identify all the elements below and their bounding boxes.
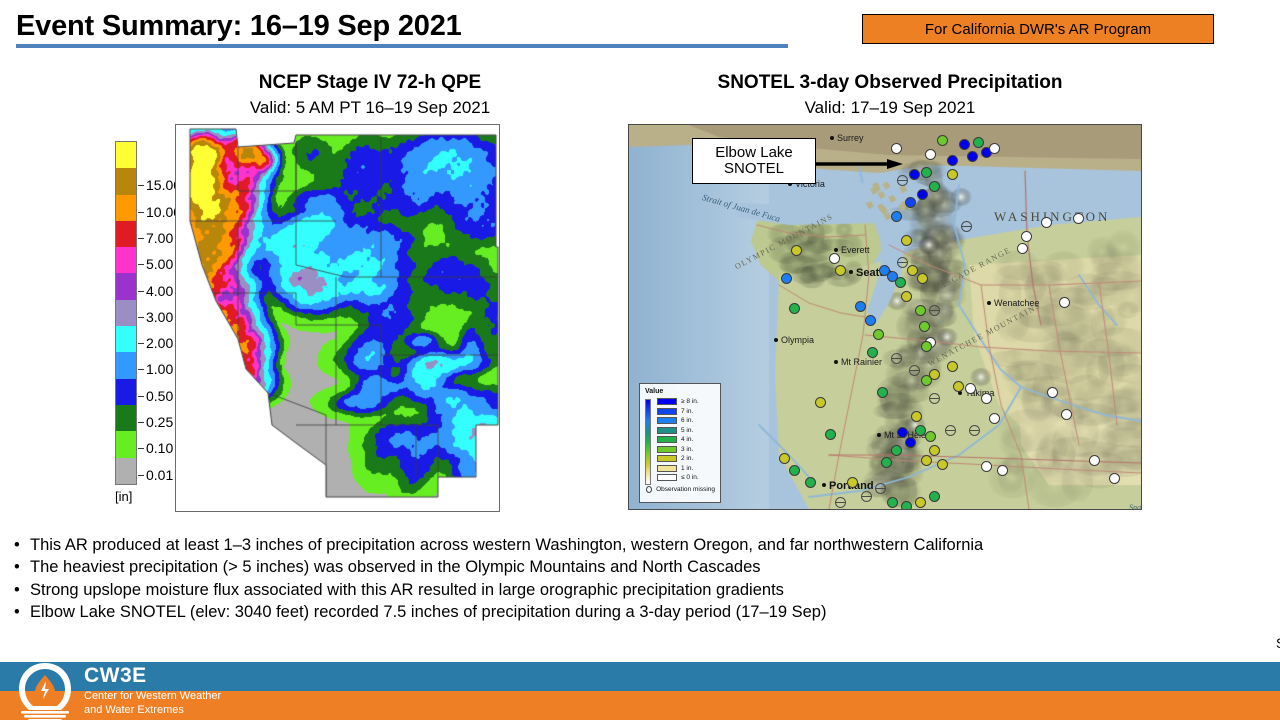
colorbar-label: 4.00 <box>146 284 173 298</box>
colorbar-tick <box>138 185 144 186</box>
snotel-site-marker[interactable] <box>981 393 992 404</box>
snotel-site-marker[interactable] <box>997 465 1008 476</box>
snotel-site-marker[interactable] <box>1059 297 1070 308</box>
colorbar-label: 7.00 <box>146 231 173 245</box>
footer-blue-band <box>0 662 1280 691</box>
snotel-site-marker[interactable] <box>915 497 926 508</box>
snotel-site-marker[interactable] <box>905 437 916 448</box>
snotel-site-marker[interactable] <box>947 169 958 180</box>
bullet-text: This AR produced at least 1–3 inches of … <box>30 535 1270 556</box>
colorbar-segment <box>116 379 136 405</box>
snotel-site-marker[interactable] <box>887 497 898 508</box>
snotel-site-missing[interactable] <box>897 257 908 268</box>
colorbar-label: 0.10 <box>146 441 173 455</box>
snotel-site-marker[interactable] <box>887 271 898 282</box>
colorbar-segment <box>116 431 136 457</box>
footer-tagline: Center for Western Weather and Water Ext… <box>84 690 221 718</box>
snotel-site-marker[interactable] <box>947 155 958 166</box>
footer-brand-name: CW3E <box>84 664 147 688</box>
snotel-site-marker[interactable] <box>915 305 926 316</box>
snotel-site-marker[interactable] <box>835 265 846 276</box>
source-prefix: Source: USDA NRCS NWCC, <box>1276 636 1280 651</box>
right-panel-subtitle: Valid: 17–19 Sep 2021 <box>620 98 1160 118</box>
snotel-site-marker[interactable] <box>891 143 902 154</box>
colorbar-segment <box>116 300 136 326</box>
bullet-text: Strong upslope moisture flux associated … <box>30 580 1270 601</box>
snotel-site-marker[interactable] <box>981 461 992 472</box>
snotel-site-marker[interactable] <box>959 139 970 150</box>
city-dot <box>834 360 838 364</box>
snotel-site-marker[interactable] <box>921 455 932 466</box>
colorbar-label: 0.01 <box>146 468 173 482</box>
snotel-site-marker[interactable] <box>781 273 792 284</box>
colorbar-tick <box>138 448 144 449</box>
snotel-site-marker[interactable] <box>1089 455 1100 466</box>
snotel-legend-row: ≥ 8 in. <box>657 397 715 407</box>
snotel-legend-label: 7 in. <box>681 408 693 415</box>
cw3e-logo-icon <box>10 660 80 720</box>
snotel-site-marker[interactable] <box>907 265 918 276</box>
snotel-legend-row: 5 in. <box>657 426 715 436</box>
snotel-site-marker[interactable] <box>921 167 932 178</box>
colorbar-segment <box>116 273 136 299</box>
summary-bullet: •Elbow Lake SNOTEL (elev: 3040 feet) rec… <box>14 602 1270 623</box>
snotel-site-marker[interactable] <box>891 211 902 222</box>
snotel-legend-row: 7 in. <box>657 407 715 417</box>
colorbar-segment <box>116 221 136 247</box>
city-dot <box>834 248 838 252</box>
snotel-site-marker[interactable] <box>905 197 916 208</box>
snotel-site-marker[interactable] <box>909 169 920 180</box>
dwr-program-badge: For California DWR's AR Program <box>862 14 1214 44</box>
snotel-legend-swatch <box>657 408 677 415</box>
footer-tagline-line-2: and Water Extremes <box>84 704 221 718</box>
colorbar-segment <box>116 405 136 431</box>
snotel-legend-title: Value <box>645 388 715 395</box>
callout-line-2: SNOTEL <box>724 161 784 177</box>
snotel-site-marker[interactable] <box>917 273 928 284</box>
snotel-site-missing[interactable] <box>961 221 972 232</box>
bullet-text: Elbow Lake SNOTEL (elev: 3040 feet) reco… <box>30 602 1270 623</box>
snotel-site-marker[interactable] <box>973 137 984 148</box>
colorbar-label: 3.00 <box>146 310 173 324</box>
footer-tagline-line-1: Center for Western Weather <box>84 690 221 704</box>
snotel-site-marker[interactable] <box>1109 473 1120 484</box>
colorbar-tick <box>138 343 144 344</box>
snotel-site-marker[interactable] <box>919 321 930 332</box>
snotel-legend-rows: ≥ 8 in.7 in.6 in.5 in.4 in.3 in.2 in.1 i… <box>645 397 715 483</box>
snotel-site-marker[interactable] <box>1021 231 1032 242</box>
snotel-legend-swatch <box>657 465 677 472</box>
snotel-legend-label: 4 in. <box>681 436 693 443</box>
colorbar-tick <box>138 369 144 370</box>
city-dot <box>830 136 834 140</box>
snotel-site-marker[interactable] <box>825 429 836 440</box>
left-panel-subtitle: Valid: 5 AM PT 16–19 Sep 2021 <box>100 98 640 118</box>
snotel-site-marker[interactable] <box>1047 387 1058 398</box>
snotel-site-marker[interactable] <box>937 135 948 146</box>
city-dot <box>822 483 826 487</box>
snotel-site-marker[interactable] <box>855 301 866 312</box>
snotel-site-marker[interactable] <box>779 453 790 464</box>
right-panel-title: SNOTEL 3-day Observed Precipitation <box>620 72 1160 94</box>
snotel-site-marker[interactable] <box>947 361 958 372</box>
city-dot <box>774 338 778 342</box>
bullet-text: The heaviest precipitation (> 5 inches) … <box>30 557 1270 578</box>
snotel-site-marker[interactable] <box>967 151 978 162</box>
snotel-legend-label: 5 in. <box>681 427 693 434</box>
colorbar-label: 0.50 <box>146 389 173 403</box>
page-title: Event Summary: 16–19 Sep 2021 <box>16 10 462 43</box>
snotel-site-marker[interactable] <box>805 477 816 488</box>
snotel-site-marker[interactable] <box>847 477 858 488</box>
snotel-legend-label: ≥ 8 in. <box>681 398 699 405</box>
snotel-site-marker[interactable] <box>925 149 936 160</box>
snotel-site-missing[interactable] <box>945 425 956 436</box>
snotel-legend-swatch <box>657 427 677 434</box>
snotel-site-marker[interactable] <box>917 189 928 200</box>
snotel-legend-label: ≤ 0 in. <box>681 474 699 481</box>
snotel-figure: SurreyVictoriaStrait of Juan de FucaOLYM… <box>628 124 1142 510</box>
snotel-site-marker[interactable] <box>791 245 802 256</box>
snotel-source-line: Source: USDA NRCS NWCC, https://www.nrcs… <box>1276 636 1280 651</box>
snotel-legend-row: 2 in. <box>657 454 715 464</box>
snotel-site-marker[interactable] <box>865 315 876 326</box>
snotel-site-marker[interactable] <box>867 347 878 358</box>
snotel-legend-row: 3 in. <box>657 445 715 455</box>
snotel-legend-label: 1 in. <box>681 465 693 472</box>
colorbar-tick <box>138 212 144 213</box>
bullet-marker: • <box>14 557 30 578</box>
snotel-site-marker[interactable] <box>929 369 940 380</box>
bullet-marker: • <box>14 535 30 556</box>
snotel-site-marker[interactable] <box>1041 217 1052 228</box>
snotel-legend-missing-row: Observation missing <box>646 486 715 493</box>
snotel-site-missing[interactable] <box>929 393 940 404</box>
bullet-marker: • <box>14 602 30 623</box>
snotel-site-marker[interactable] <box>953 381 964 392</box>
snotel-site-marker[interactable] <box>965 383 976 394</box>
colorbar-label: 1.00 <box>146 362 173 376</box>
snotel-legend-missing-label: Observation missing <box>656 486 715 493</box>
snotel-legend-label: 6 in. <box>681 417 693 424</box>
snotel-site-marker[interactable] <box>929 491 940 502</box>
snotel-site-missing[interactable] <box>835 497 846 508</box>
city-dot <box>849 270 853 274</box>
snotel-map: SurreyVictoriaStrait of Juan de FucaOLYM… <box>628 124 1142 510</box>
callout-line-1: Elbow Lake <box>715 145 793 161</box>
colorbar-tick <box>138 422 144 423</box>
snotel-site-missing[interactable] <box>891 353 902 364</box>
snotel-site-marker[interactable] <box>911 411 922 422</box>
snotel-site-missing[interactable] <box>861 491 872 502</box>
left-panel-title: NCEP Stage IV 72-h QPE <box>100 72 640 94</box>
snotel-site-marker[interactable] <box>1073 213 1084 224</box>
snotel-legend-row: 6 in. <box>657 416 715 426</box>
snotel-site-marker[interactable] <box>901 235 912 246</box>
colorbar-segment <box>116 247 136 273</box>
snotel-legend: Value ≥ 8 in.7 in.6 in.5 in.4 in.3 in.2 … <box>639 383 721 503</box>
colorbar-segment <box>116 142 136 168</box>
snotel-site-missing[interactable] <box>897 175 908 186</box>
snotel-site-marker[interactable] <box>881 457 892 468</box>
snotel-legend-label: 2 in. <box>681 455 693 462</box>
title-underline-rule <box>16 44 788 48</box>
qpe-map <box>175 124 500 512</box>
callout-arrow-icon <box>815 159 903 169</box>
colorbar-tick <box>138 475 144 476</box>
qpe-colorbar-units: [in] <box>115 489 132 504</box>
qpe-figure: 15.0010.007.005.004.003.002.001.000.500.… <box>105 124 500 512</box>
bullet-marker: • <box>14 580 30 601</box>
summary-bullet: •The heaviest precipitation (> 5 inches)… <box>14 557 1270 578</box>
snotel-legend-row: 1 in. <box>657 464 715 474</box>
snotel-site-marker[interactable] <box>789 465 800 476</box>
snotel-site-marker[interactable] <box>1017 243 1028 254</box>
colorbar-tick <box>138 264 144 265</box>
colorbar-segment <box>116 458 136 484</box>
snotel-legend-label: 3 in. <box>681 446 693 453</box>
snotel-legend-row: ≤ 0 in. <box>657 473 715 483</box>
summary-bullet-list: •This AR produced at least 1–3 inches of… <box>14 535 1270 625</box>
observation-missing-icon <box>646 486 652 493</box>
snotel-site-missing[interactable] <box>969 425 980 436</box>
qpe-colorbar-ramp <box>115 141 137 485</box>
snotel-site-marker[interactable] <box>829 253 840 264</box>
snotel-site-marker[interactable] <box>901 291 912 302</box>
colorbar-tick <box>138 291 144 292</box>
snotel-legend-ramp <box>645 399 651 485</box>
snotel-legend-swatch <box>657 398 677 405</box>
slide-root: Event Summary: 16–19 Sep 2021 For Califo… <box>0 0 1280 720</box>
colorbar-label: 0.25 <box>146 415 173 429</box>
snotel-legend-swatch <box>657 455 677 462</box>
snotel-site-marker[interactable] <box>789 303 800 314</box>
snotel-site-marker[interactable] <box>929 445 940 456</box>
snotel-legend-swatch <box>657 446 677 453</box>
snotel-site-marker[interactable] <box>1061 409 1072 420</box>
snotel-site-marker[interactable] <box>901 501 912 510</box>
snotel-site-marker[interactable] <box>989 143 1000 154</box>
summary-bullet: •This AR produced at least 1–3 inches of… <box>14 535 1270 556</box>
snotel-site-marker[interactable] <box>925 431 936 442</box>
snotel-site-marker[interactable] <box>929 181 940 192</box>
snotel-site-marker[interactable] <box>877 387 888 398</box>
snotel-site-marker[interactable] <box>873 329 884 340</box>
snotel-legend-swatch <box>657 417 677 424</box>
colorbar-segment <box>116 168 136 194</box>
snotel-site-marker[interactable] <box>989 413 1000 424</box>
summary-bullet: •Strong upslope moisture flux associated… <box>14 580 1270 601</box>
snotel-legend-swatch <box>657 474 677 481</box>
snotel-site-missing[interactable] <box>909 365 920 376</box>
colorbar-segment <box>116 195 136 221</box>
colorbar-tick <box>138 238 144 239</box>
colorbar-segment <box>116 352 136 378</box>
snotel-site-missing[interactable] <box>929 305 940 316</box>
snotel-site-marker[interactable] <box>897 427 908 438</box>
colorbar-tick <box>138 317 144 318</box>
snotel-site-marker[interactable] <box>815 397 826 408</box>
qpe-map-canvas <box>176 125 499 511</box>
snotel-site-missing[interactable] <box>875 483 886 494</box>
colorbar-tick <box>138 396 144 397</box>
snotel-site-marker[interactable] <box>937 459 948 470</box>
colorbar-segment <box>116 326 136 352</box>
snotel-site-marker[interactable] <box>891 445 902 456</box>
city-dot <box>877 433 881 437</box>
snotel-legend-row: 4 in. <box>657 435 715 445</box>
elbow-lake-callout: Elbow Lake SNOTEL <box>692 138 816 184</box>
colorbar-label: 2.00 <box>146 336 173 350</box>
city-dot <box>987 301 991 305</box>
snotel-site-marker[interactable] <box>921 341 932 352</box>
colorbar-label: 5.00 <box>146 257 173 271</box>
snotel-legend-swatch <box>657 436 677 443</box>
